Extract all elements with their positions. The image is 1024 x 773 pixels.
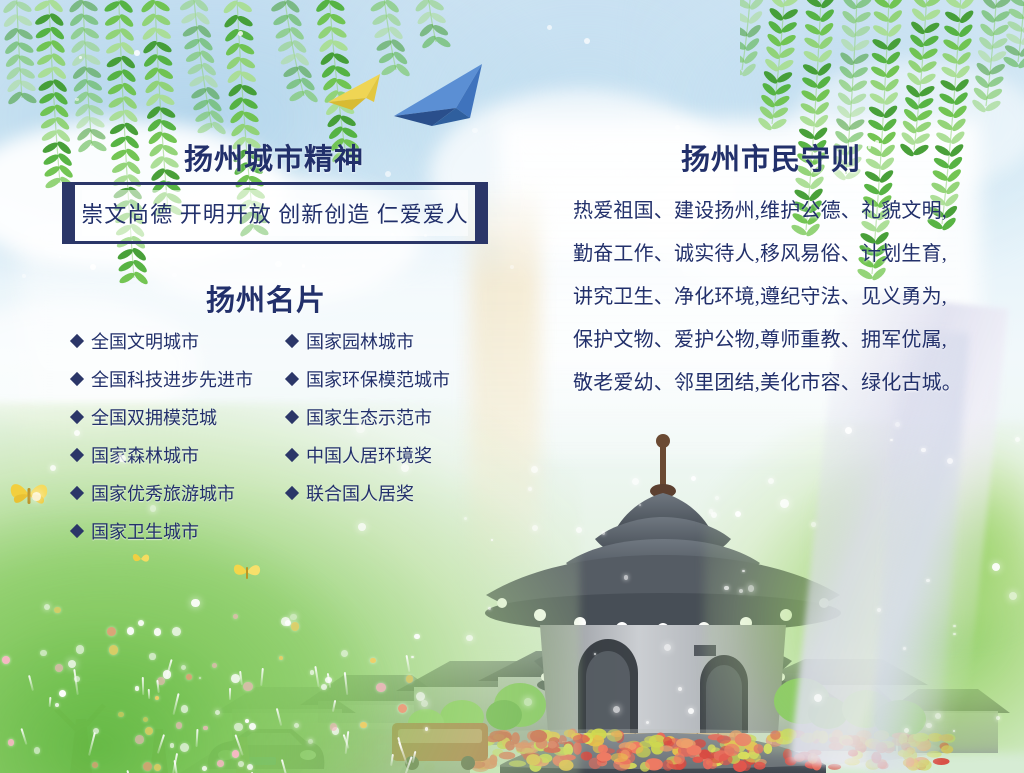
- light-speck: [602, 531, 606, 535]
- name-card-item: 国家优秀旅游城市: [72, 474, 287, 512]
- wildflower: [186, 674, 192, 680]
- light-speck: [678, 687, 682, 691]
- light-speck: [191, 599, 199, 607]
- grass-blade: [147, 689, 150, 699]
- flowerbed-blossom: [598, 744, 608, 753]
- meadow-left-core: [0, 513, 390, 773]
- name-card-item: 全国文明城市: [72, 322, 287, 360]
- wildflower: [247, 764, 253, 770]
- light-speck: [290, 614, 296, 620]
- wildflower: [118, 712, 123, 717]
- light-speck: [926, 579, 930, 583]
- light-speck: [664, 644, 671, 651]
- name-card-item: 全国科技进步先进市: [72, 360, 287, 398]
- light-speck: [401, 464, 409, 472]
- light-speck: [875, 140, 879, 144]
- name-card-item-label: 国家生态示范市: [306, 404, 432, 430]
- light-speck: [472, 128, 477, 133]
- citizen-rules-line: 讲究卫生、净化环境,遵纪守法、见义勇为,: [573, 276, 977, 319]
- wildflower: [127, 627, 134, 634]
- diamond-bullet-icon: [285, 334, 299, 348]
- flowerbed-blossom: [645, 758, 660, 769]
- wildflower: [376, 683, 386, 693]
- name-card-item-label: 国家园林城市: [306, 328, 414, 354]
- light-speck: [646, 721, 649, 724]
- wildflower: [135, 735, 144, 744]
- citizen-rules-line: 保护文物、爱护公物,尊师重教、拥军优属,: [573, 319, 977, 362]
- name-card-item: 国家森林城市: [72, 436, 287, 474]
- light-speck: [903, 647, 906, 650]
- light-speck: [199, 677, 201, 679]
- name-card-item-label: 国家森林城市: [91, 442, 199, 468]
- paper-plane-icon: [322, 68, 392, 118]
- name-card-item: 国家环保模范城市: [287, 360, 492, 398]
- light-speck: [358, 523, 366, 531]
- wildflower: [291, 622, 299, 630]
- wildflower: [76, 645, 85, 654]
- citizen-rules-line: 勤奋工作、诚实待人,移风易俗、计划生育,: [573, 233, 977, 276]
- wildflower: [370, 658, 375, 663]
- wildflower: [8, 739, 14, 745]
- light-speck: [421, 700, 428, 707]
- light-speck: [308, 739, 313, 744]
- wildflower: [107, 627, 116, 636]
- wildflower: [154, 764, 161, 771]
- light-speck: [68, 660, 76, 668]
- diamond-bullet-icon: [285, 486, 299, 500]
- name-card-item-label: 中国人居环境奖: [306, 442, 432, 468]
- light-speck: [118, 455, 125, 462]
- light-speck: [528, 487, 532, 491]
- wildflower: [59, 690, 66, 697]
- name-card-item: 国家卫生城市: [72, 512, 287, 550]
- light-speck: [22, 274, 25, 277]
- diamond-bullet-icon: [70, 448, 84, 462]
- light-speck: [391, 233, 394, 236]
- flowerbed-blossom: [611, 753, 628, 762]
- frame-rule-top: [62, 182, 488, 185]
- light-speck: [632, 478, 639, 485]
- diamond-bullet-icon: [285, 448, 299, 462]
- wildflower: [203, 726, 207, 730]
- butterfly-icon: [232, 560, 262, 584]
- light-speck: [688, 708, 694, 714]
- light-speck: [576, 527, 582, 533]
- wildflower: [176, 722, 182, 728]
- diamond-bullet-icon: [70, 410, 84, 424]
- name-card-item: 中国人居环境奖: [287, 436, 492, 474]
- wildflower: [310, 670, 314, 674]
- flowerbed-blossom: [581, 751, 593, 760]
- light-speck: [935, 713, 941, 719]
- slogan-inner: 崇文尚德 开明开放 创新创造 仁爱爱人: [82, 190, 468, 236]
- light-speck: [531, 466, 538, 473]
- light-speck: [532, 525, 538, 531]
- flowerbed-blossom: [754, 762, 766, 770]
- name-card-item: 国家生态示范市: [287, 398, 492, 436]
- paper-plane-icon: [386, 56, 496, 132]
- page-title-city-spirit: 扬州城市精神: [184, 136, 364, 178]
- grass-blade: [229, 688, 231, 700]
- light-speck: [385, 171, 391, 177]
- wildflower: [279, 656, 283, 660]
- name-card-item-label: 国家环保模范城市: [306, 366, 450, 392]
- butterfly-icon: [131, 551, 151, 567]
- diamond-bullet-icon: [70, 334, 84, 348]
- light-speck: [510, 265, 514, 269]
- diamond-bullet-icon: [285, 372, 299, 386]
- flowerbed-blossom: [636, 746, 651, 757]
- wildflower: [330, 723, 338, 731]
- light-speck: [302, 264, 305, 267]
- wildflower: [238, 761, 244, 767]
- name-card-item-label: 全国科技进步先进市: [91, 366, 253, 392]
- flowerbed-blossom: [674, 753, 685, 764]
- light-speck: [904, 728, 909, 733]
- diamond-bullet-icon: [70, 524, 84, 538]
- light-speck: [845, 427, 852, 434]
- name-card-item-label: 全国文明城市: [91, 328, 199, 354]
- light-speck: [953, 625, 955, 627]
- light-speck: [524, 698, 531, 705]
- wildflower: [416, 692, 425, 701]
- name-card-item-label: 联合国人居奖: [306, 480, 414, 506]
- light-speck: [921, 448, 925, 452]
- light-speck: [547, 25, 552, 30]
- light-speck: [895, 422, 900, 427]
- wildflower: [233, 614, 238, 619]
- light-speck: [190, 233, 196, 239]
- light-speck: [780, 499, 789, 508]
- wildflower: [149, 653, 155, 659]
- light-speck: [1009, 592, 1017, 600]
- name-card-item-label: 国家卫生城市: [91, 518, 199, 544]
- diamond-bullet-icon: [70, 486, 84, 500]
- wildflower: [54, 607, 60, 613]
- light-speck: [830, 195, 834, 199]
- name-card-item-label: 全国双拥模范城: [91, 404, 217, 430]
- light-speck: [610, 195, 616, 201]
- grass-blade: [142, 677, 144, 695]
- flowerbed-blossom: [676, 738, 693, 748]
- wildflower: [212, 663, 217, 668]
- flowerbed-blossom: [607, 729, 623, 742]
- wildflower: [172, 627, 181, 636]
- light-speck: [992, 563, 1000, 571]
- flowerbed-blossom: [692, 756, 703, 762]
- light-speck: [181, 665, 186, 670]
- light-speck: [79, 56, 82, 59]
- light-speck: [877, 608, 881, 612]
- name-card-column-right: 国家园林城市国家环保模范城市国家生态示范市中国人居环境奖联合国人居奖: [287, 322, 492, 512]
- wildflower: [281, 617, 290, 626]
- name-card-item: 联合国人居奖: [287, 474, 492, 512]
- light-speck: [332, 202, 338, 208]
- wildflower: [34, 747, 40, 753]
- flowerbed-blossom: [662, 760, 673, 771]
- name-card-item: 全国双拥模范城: [72, 398, 287, 436]
- wildflower: [360, 722, 367, 729]
- wildflower: [181, 705, 188, 712]
- citizen-rules-line: 热爱祖国、建设扬州,维护公德、礼貌文明,: [573, 190, 977, 233]
- wildflower: [109, 645, 118, 654]
- light-speck: [947, 458, 953, 464]
- flowerbed-blossom: [660, 745, 673, 751]
- diamond-bullet-icon: [70, 372, 84, 386]
- page-title-name-card: 扬州名片: [206, 277, 326, 319]
- citizen-rules-text: 热爱祖国、建设扬州,维护公德、礼貌文明,勤奋工作、诚实待人,移风易俗、计划生育,…: [573, 190, 977, 405]
- light-speck: [868, 145, 871, 148]
- flowerbed-blossom: [587, 729, 596, 738]
- frame-rule-bottom: [62, 241, 488, 244]
- wildflower: [249, 723, 256, 730]
- light-speck: [613, 706, 620, 713]
- wildflower: [217, 760, 224, 767]
- light-speck: [275, 261, 281, 267]
- light-speck: [356, 425, 365, 434]
- light-speck: [594, 653, 596, 655]
- light-speck: [803, 275, 805, 277]
- citizen-rules-line: 敬老爱幼、邻里团结,美化市容、绿化古城。: [573, 362, 977, 405]
- frame-bar-left: [62, 182, 75, 244]
- wildflower: [135, 686, 139, 690]
- page-title-citizen-rules: 扬州市民守则: [681, 136, 861, 178]
- name-card-item: 国家园林城市: [287, 322, 492, 360]
- wildflower: [55, 664, 63, 672]
- wildflower: [231, 674, 240, 683]
- grass-blade: [48, 697, 51, 707]
- frame-bar-right: [475, 182, 488, 244]
- city-spirit-slogan: 崇文尚德 开明开放 创新创造 仁爱爱人: [81, 197, 469, 229]
- name-card-column-left: 全国文明城市全国科技进步先进市全国双拥模范城国家森林城市国家优秀旅游城市国家卫生…: [72, 322, 287, 550]
- light-speck: [926, 723, 931, 728]
- name-card-item-label: 国家优秀旅游城市: [91, 480, 235, 506]
- light-speck: [424, 234, 427, 237]
- wildflower: [180, 743, 189, 752]
- flowerbed-blossom: [703, 758, 713, 769]
- light-speck: [623, 158, 629, 164]
- wildflower: [2, 656, 10, 664]
- diamond-bullet-icon: [285, 410, 299, 424]
- light-speck: [466, 635, 472, 641]
- butterfly-icon: [8, 478, 50, 510]
- flowerbed-blossom: [597, 752, 612, 761]
- poster-canvas: 扬州城市精神 崇文尚德 开明开放 创新创造 仁爱爱人 扬州名片 全国文明城市全国…: [0, 0, 1024, 773]
